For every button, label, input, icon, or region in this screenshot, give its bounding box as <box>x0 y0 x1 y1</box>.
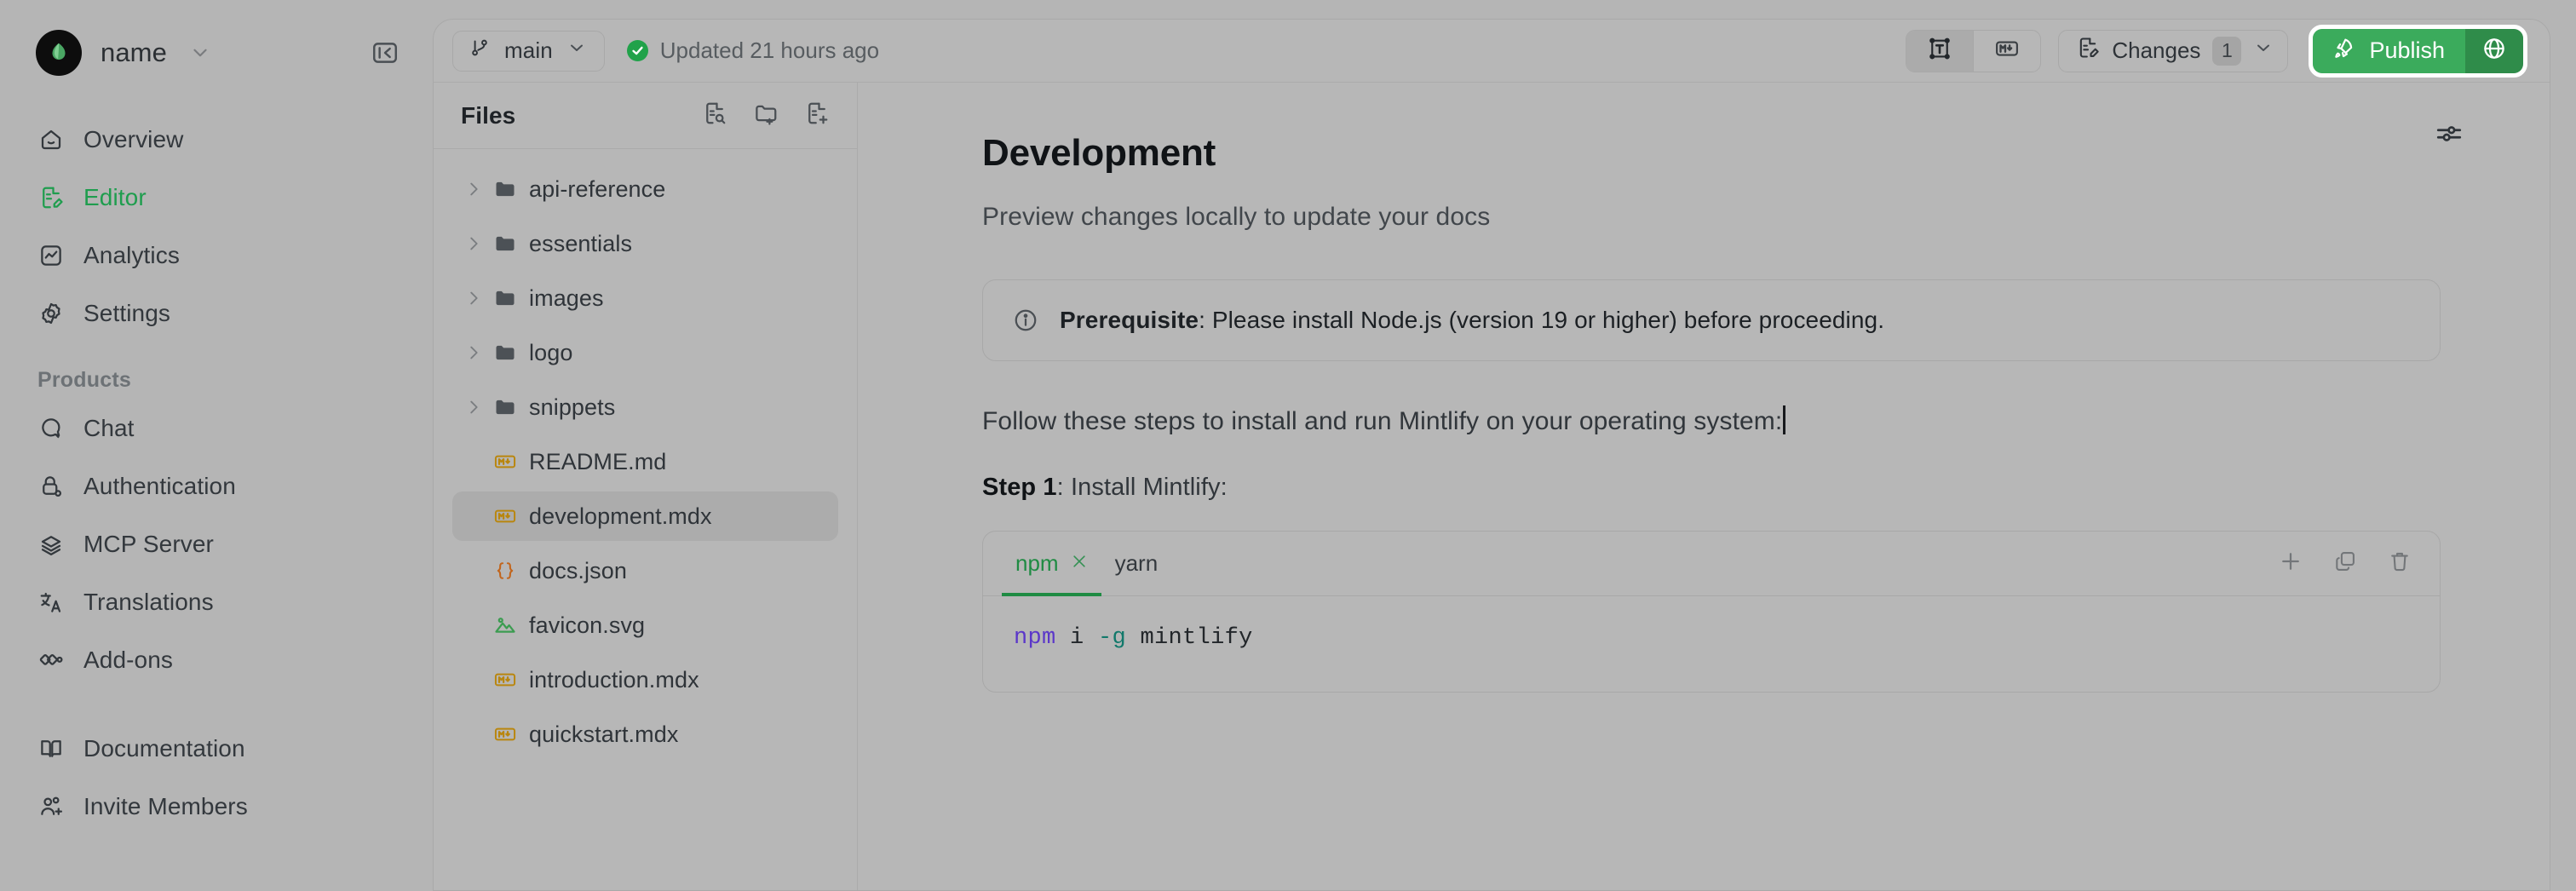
branch-selector[interactable]: main <box>452 31 605 72</box>
sidebar-item-overview[interactable]: Overview <box>26 118 407 162</box>
tree-item-label: development.mdx <box>529 503 712 530</box>
sidebar-item-add-ons[interactable]: Add-ons <box>26 638 407 682</box>
tree-item-label: essentials <box>529 231 632 257</box>
tree-item-file[interactable]: introduction.mdx <box>452 655 838 704</box>
files-title: Files <box>461 102 700 129</box>
view-mode-toggle <box>1906 30 2041 72</box>
sidebar-item-label: Overview <box>83 126 184 153</box>
tree-item-file[interactable]: quickstart.mdx <box>452 710 838 759</box>
publish-label: Publish <box>2369 37 2445 64</box>
callout-text: Prerequisite: Please install Node.js (ve… <box>1060 307 1884 334</box>
chat-sparkle-icon <box>37 415 65 442</box>
update-status: Updated 21 hours ago <box>627 37 879 64</box>
files-panel-header: Files <box>434 83 857 149</box>
sidebar-item-mcp-server[interactable]: MCP Server <box>26 522 407 566</box>
intro-paragraph[interactable]: Follow these steps to install and run Mi… <box>982 405 1785 436</box>
folder-icon <box>493 341 529 365</box>
copy-icon <box>2333 549 2357 578</box>
markdown-file-icon <box>493 504 529 528</box>
files-actions <box>700 101 831 130</box>
sidebar-item-label: MCP Server <box>83 531 214 558</box>
sliders-icon <box>2435 119 2464 152</box>
code-tab-npm[interactable]: npm <box>1002 532 1101 595</box>
image-file-icon <box>493 613 529 637</box>
code-token-flag: -g <box>1098 625 1126 651</box>
code-tab-label: yarn <box>1115 550 1159 577</box>
file-search-icon <box>702 101 727 130</box>
code-token-package: mintlify <box>1126 625 1253 651</box>
publish-site-link-button[interactable] <box>2465 29 2523 73</box>
add-tab-button[interactable] <box>2276 549 2305 578</box>
markdown-file-icon <box>493 722 529 746</box>
sidebar-item-settings[interactable]: Settings <box>26 291 407 336</box>
text-frame-icon <box>1927 36 1952 66</box>
chevron-right-icon[interactable] <box>464 289 493 308</box>
primary-sidebar: name Overview <box>0 0 433 891</box>
info-circle-icon <box>1012 307 1039 334</box>
git-branch-icon <box>469 37 491 65</box>
chevron-down-icon <box>566 37 587 64</box>
new-folder-button[interactable] <box>751 101 780 130</box>
chevron-right-icon[interactable] <box>464 234 493 253</box>
code-tab-yarn[interactable]: yarn <box>1101 532 1172 595</box>
sidebar-item-translations[interactable]: Translations <box>26 580 407 624</box>
tree-item-folder[interactable]: images <box>452 273 838 323</box>
folder-icon <box>493 232 529 256</box>
tree-item-folder[interactable]: snippets <box>452 382 838 432</box>
org-avatar <box>36 30 82 76</box>
sidebar-item-documentation[interactable]: Documentation <box>26 727 407 771</box>
text-cursor <box>1783 405 1785 434</box>
chevron-down-icon <box>2253 37 2274 64</box>
tree-item-label: snippets <box>529 394 615 421</box>
document-editor[interactable]: Development Preview changes locally to u… <box>858 83 2550 890</box>
document-settings-button[interactable] <box>2432 118 2466 152</box>
intro-paragraph-text: Follow these steps to install and run Mi… <box>982 407 1782 435</box>
gear-icon <box>37 300 65 327</box>
tree-item-folder[interactable]: essentials <box>452 219 838 268</box>
tree-item-label: api-reference <box>529 176 665 203</box>
copy-code-button[interactable] <box>2331 549 2360 578</box>
step-one-line[interactable]: Step 1: Install Mintlify: <box>982 474 2441 502</box>
page-subtitle: Preview changes locally to update your d… <box>982 203 2441 232</box>
tree-item-label: docs.json <box>529 558 627 584</box>
sidebar-section-products: Products <box>26 349 407 406</box>
tree-item-file[interactable]: docs.json <box>452 546 838 595</box>
folder-icon <box>493 395 529 419</box>
diamonds-icon <box>37 647 65 674</box>
workspace-panel: main Updated 21 hours ago <box>433 19 2550 891</box>
org-name: name <box>101 37 167 68</box>
chevron-right-icon[interactable] <box>464 343 493 362</box>
code-block-content[interactable]: npm i -g mintlify <box>983 596 2440 692</box>
tree-item-label: introduction.mdx <box>529 667 699 693</box>
sidebar-item-label: Documentation <box>83 735 245 762</box>
rocket-icon <box>2332 36 2355 66</box>
lock-user-icon <box>37 473 65 500</box>
page-title: Development <box>982 132 2441 175</box>
markdown-file-icon <box>493 668 529 692</box>
sidebar-item-chat[interactable]: Chat <box>26 406 407 451</box>
chevron-right-icon[interactable] <box>464 180 493 198</box>
update-status-text: Updated 21 hours ago <box>660 37 879 64</box>
workspace-body: Files <box>434 83 2550 890</box>
globe-icon <box>2481 36 2507 66</box>
callout-bold: Prerequisite <box>1060 307 1199 333</box>
sidebar-item-invite-members[interactable]: Invite Members <box>26 785 407 829</box>
folder-plus-icon <box>753 101 779 130</box>
wysiwyg-view-button[interactable] <box>1906 31 1973 72</box>
folder-icon <box>493 177 529 201</box>
tree-item-file-selected[interactable]: development.mdx <box>452 491 838 541</box>
sidebar-item-label: Add-ons <box>83 647 173 674</box>
translate-icon <box>37 589 65 616</box>
step-label: Step 1 <box>982 474 1057 501</box>
sidebar-item-label: Chat <box>83 415 135 442</box>
sidebar-nav: Overview Editor Analytics <box>0 106 433 842</box>
publish-button[interactable]: Publish <box>2313 29 2465 73</box>
sidebar-item-label: Editor <box>83 184 147 211</box>
files-panel: Files <box>434 83 858 890</box>
trash-icon <box>2388 549 2412 578</box>
user-plus-icon <box>37 793 65 820</box>
plus-icon <box>2278 549 2303 578</box>
collapse-sidebar-button[interactable] <box>366 34 404 72</box>
tree-item-label: logo <box>529 340 572 366</box>
tree-item-label: favicon.svg <box>529 612 645 639</box>
markdown-view-button[interactable] <box>1974 31 2040 72</box>
sidebar-item-label: Settings <box>83 300 170 327</box>
chevron-down-icon <box>189 42 211 64</box>
folder-icon <box>493 286 529 310</box>
new-file-button[interactable] <box>802 101 831 130</box>
sidebar-header: name <box>0 0 433 106</box>
sidebar-item-label: Invite Members <box>83 793 248 820</box>
markdown-file-icon <box>493 450 529 474</box>
file-tree: api-reference essentials images <box>434 149 857 764</box>
editor-app: name Overview <box>0 0 2576 891</box>
code-block: npm yarn <box>982 531 2441 693</box>
prerequisite-callout: Prerequisite: Please install Node.js (ve… <box>982 279 2441 361</box>
code-block-tabs: npm yarn <box>983 532 2440 596</box>
code-line: npm i -g mintlify <box>1014 625 2409 651</box>
tree-item-label: README.md <box>529 449 666 475</box>
chevron-right-icon[interactable] <box>464 398 493 417</box>
sidebar-item-label: Translations <box>83 589 214 616</box>
check-circle-icon <box>627 40 648 61</box>
changes-count-badge: 1 <box>2212 37 2241 66</box>
workspace-topbar: main Updated 21 hours ago <box>434 20 2550 83</box>
file-edit-icon <box>2076 36 2100 66</box>
org-switcher[interactable]: name <box>36 30 366 76</box>
delete-block-button[interactable] <box>2385 549 2414 578</box>
layers-icon <box>37 531 65 558</box>
tree-item-label: images <box>529 285 604 312</box>
home-icon <box>37 126 65 153</box>
tree-item-file[interactable]: favicon.svg <box>452 601 838 650</box>
chart-square-icon <box>37 242 65 269</box>
changes-dropdown[interactable]: Changes 1 <box>2058 30 2288 72</box>
sidebar-item-label: Analytics <box>83 242 180 269</box>
tree-item-folder[interactable]: api-reference <box>452 164 838 214</box>
changes-label: Changes <box>2112 37 2200 64</box>
branch-name: main <box>504 37 553 64</box>
sidebar-item-authentication[interactable]: Authentication <box>26 464 407 509</box>
tree-item-file[interactable]: README.md <box>452 437 838 486</box>
code-token-arg: i <box>1056 625 1099 651</box>
file-plus-icon <box>804 101 830 130</box>
sidebar-item-editor[interactable]: Editor <box>26 175 407 220</box>
markdown-icon <box>1994 36 2020 66</box>
search-file-button[interactable] <box>700 101 729 130</box>
sidebar-item-analytics[interactable]: Analytics <box>26 233 407 278</box>
tree-item-folder[interactable]: logo <box>452 328 838 377</box>
close-icon[interactable] <box>1071 552 1088 576</box>
code-tab-label: npm <box>1015 550 1059 577</box>
json-file-icon <box>493 559 529 583</box>
tree-item-label: quickstart.mdx <box>529 721 678 748</box>
step-text: : Install Mintlify: <box>1057 474 1228 501</box>
nav-divider-space <box>26 696 407 727</box>
file-edit-icon <box>37 184 65 211</box>
code-block-tools <box>2276 532 2421 595</box>
callout-rest: : Please install Node.js (version 19 or … <box>1199 307 1884 333</box>
publish-button-group: Publish <box>2309 25 2527 78</box>
book-open-icon <box>37 735 65 762</box>
sidebar-item-label: Authentication <box>83 473 236 500</box>
code-token-command: npm <box>1014 625 1056 651</box>
